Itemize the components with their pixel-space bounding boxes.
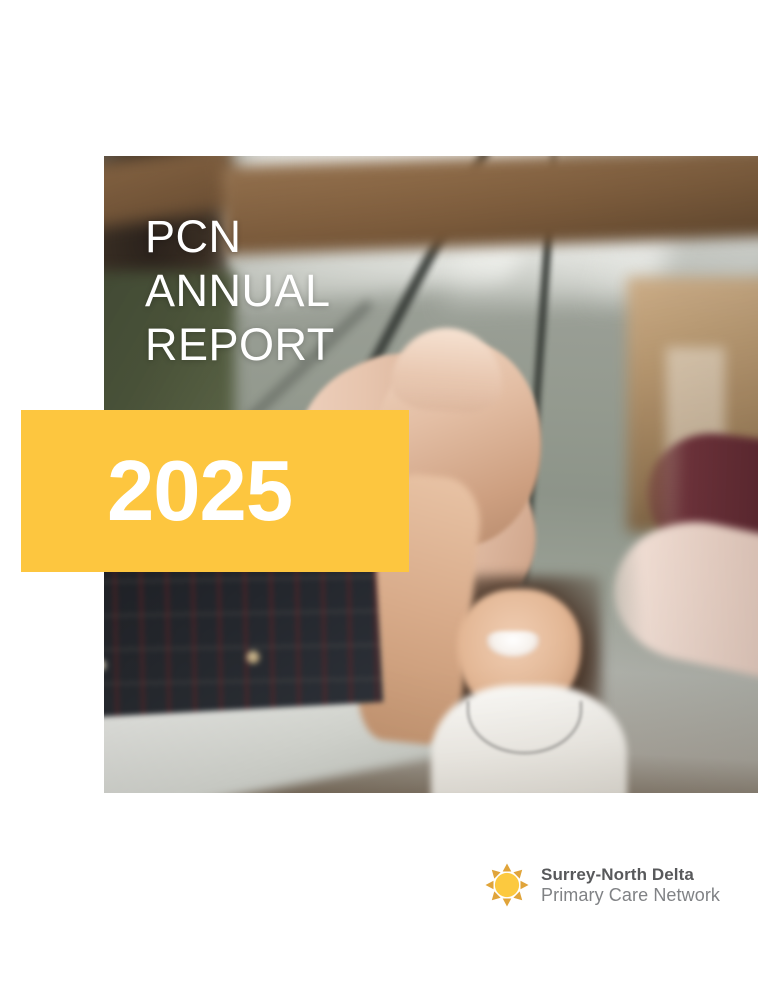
- logo-text-block: Surrey-North Delta Primary Care Network: [541, 866, 720, 904]
- logo-subtitle: Primary Care Network: [541, 886, 720, 904]
- year-label: 2025: [107, 446, 292, 538]
- organisation-logo: Surrey-North Delta Primary Care Network: [484, 862, 720, 908]
- cover-title: PCN ANNUAL REPORT: [145, 210, 335, 372]
- report-cover-page: PCN ANNUAL REPORT 2025 Surrey-Nort: [0, 0, 773, 1000]
- logo-title: Surrey-North Delta: [541, 866, 720, 883]
- sun-icon: [484, 862, 530, 908]
